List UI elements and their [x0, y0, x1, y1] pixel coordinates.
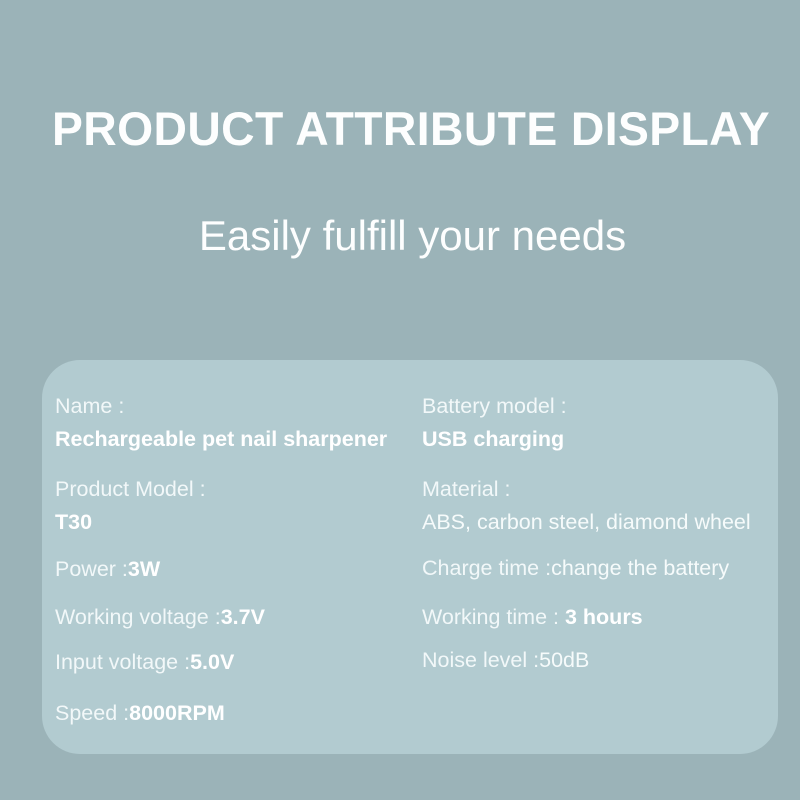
spec-value: USB charging — [422, 426, 567, 453]
spec-label: Input voltage : — [55, 650, 190, 674]
spec-label: Name : — [55, 393, 387, 420]
spec-label: Material : — [422, 476, 751, 503]
page-subtitle: Easily fulfill your needs — [0, 213, 800, 259]
spec-row-charge-time: Charge time :change the battery — [422, 555, 729, 582]
spec-row-battery-model: Battery model :USB charging — [422, 393, 567, 452]
product-attribute-slide: PRODUCT ATTRIBUTE DISPLAY Easily fulfill… — [0, 0, 800, 800]
spec-row-power: Power :3W — [55, 556, 160, 583]
spec-row-working-time: Working time : 3 hours — [422, 604, 643, 631]
spec-value: 8000RPM — [129, 701, 225, 725]
spec-value: ABS, carbon steel, diamond wheel — [422, 509, 751, 536]
spec-value: 3W — [128, 557, 160, 581]
spec-row-input-voltage: Input voltage :5.0V — [55, 649, 234, 676]
spec-row-name: Name :Rechargeable pet nail sharpener — [55, 393, 387, 452]
spec-row-product-model: Product Model :T30 — [55, 476, 206, 535]
spec-label: Noise level : — [422, 648, 539, 672]
spec-row-material: Material :ABS, carbon steel, diamond whe… — [422, 476, 751, 535]
spec-label: Battery model : — [422, 393, 567, 420]
spec-label: Speed : — [55, 701, 129, 725]
spec-value: 3.7V — [221, 605, 265, 629]
spec-row-noise-level: Noise level :50dB — [422, 647, 589, 674]
spec-value: T30 — [55, 509, 206, 536]
spec-value: 5.0V — [190, 650, 234, 674]
spec-value: 50dB — [539, 648, 589, 672]
spec-value: 3 hours — [565, 605, 643, 629]
spec-value: change the battery — [551, 556, 729, 580]
spec-label: Charge time : — [422, 556, 551, 580]
spec-label: Working time : — [422, 605, 565, 629]
spec-label: Product Model : — [55, 476, 206, 503]
spec-label: Working voltage : — [55, 605, 221, 629]
spec-value: Rechargeable pet nail sharpener — [55, 426, 387, 453]
spec-row-working-voltage: Working voltage :3.7V — [55, 604, 265, 631]
spec-panel: Name :Rechargeable pet nail sharpenerPro… — [42, 360, 778, 754]
spec-label: Power : — [55, 557, 128, 581]
spec-row-speed: Speed :8000RPM — [55, 700, 225, 727]
page-title: PRODUCT ATTRIBUTE DISPLAY — [52, 104, 761, 153]
